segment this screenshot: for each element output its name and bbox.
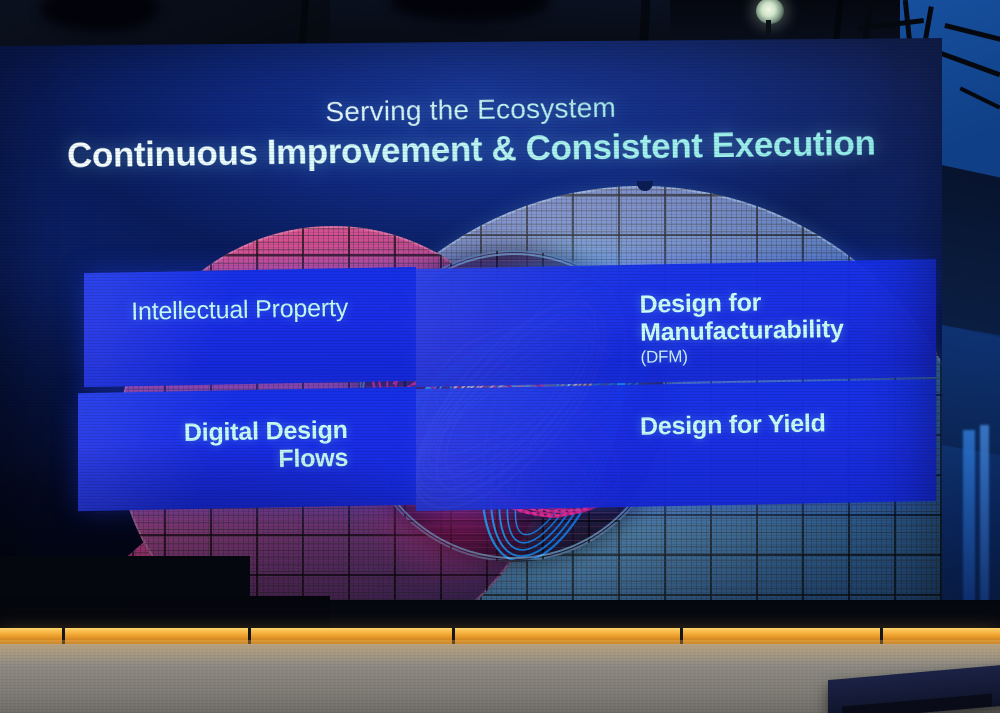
panel-sheen — [84, 267, 416, 387]
panel-sheen — [416, 259, 936, 387]
presentation-slide: Intellectual Property Design for Manufac… — [0, 38, 942, 638]
quadrant-panel-digital-design-flows[interactable] — [78, 387, 416, 511]
stage-light-mount — [766, 20, 771, 36]
quadrant-panel-design-for-manufacturability[interactable] — [416, 259, 936, 387]
wall-light-strip — [980, 425, 989, 615]
panel-sheen — [416, 379, 936, 511]
led-screen: Intellectual Property Design for Manufac… — [0, 38, 942, 638]
stage-photo: Intellectual Property Design for Manufac… — [0, 0, 1000, 713]
wall-light-strip — [963, 430, 975, 610]
slide-title-block: Serving the Ecosystem Continuous Improve… — [0, 87, 942, 178]
panel-sheen — [78, 387, 416, 511]
floor-light-spill — [0, 640, 1000, 666]
quadrant-panel-intellectual-property[interactable] — [84, 267, 416, 387]
quadrant-panel-design-for-yield[interactable] — [416, 379, 936, 511]
